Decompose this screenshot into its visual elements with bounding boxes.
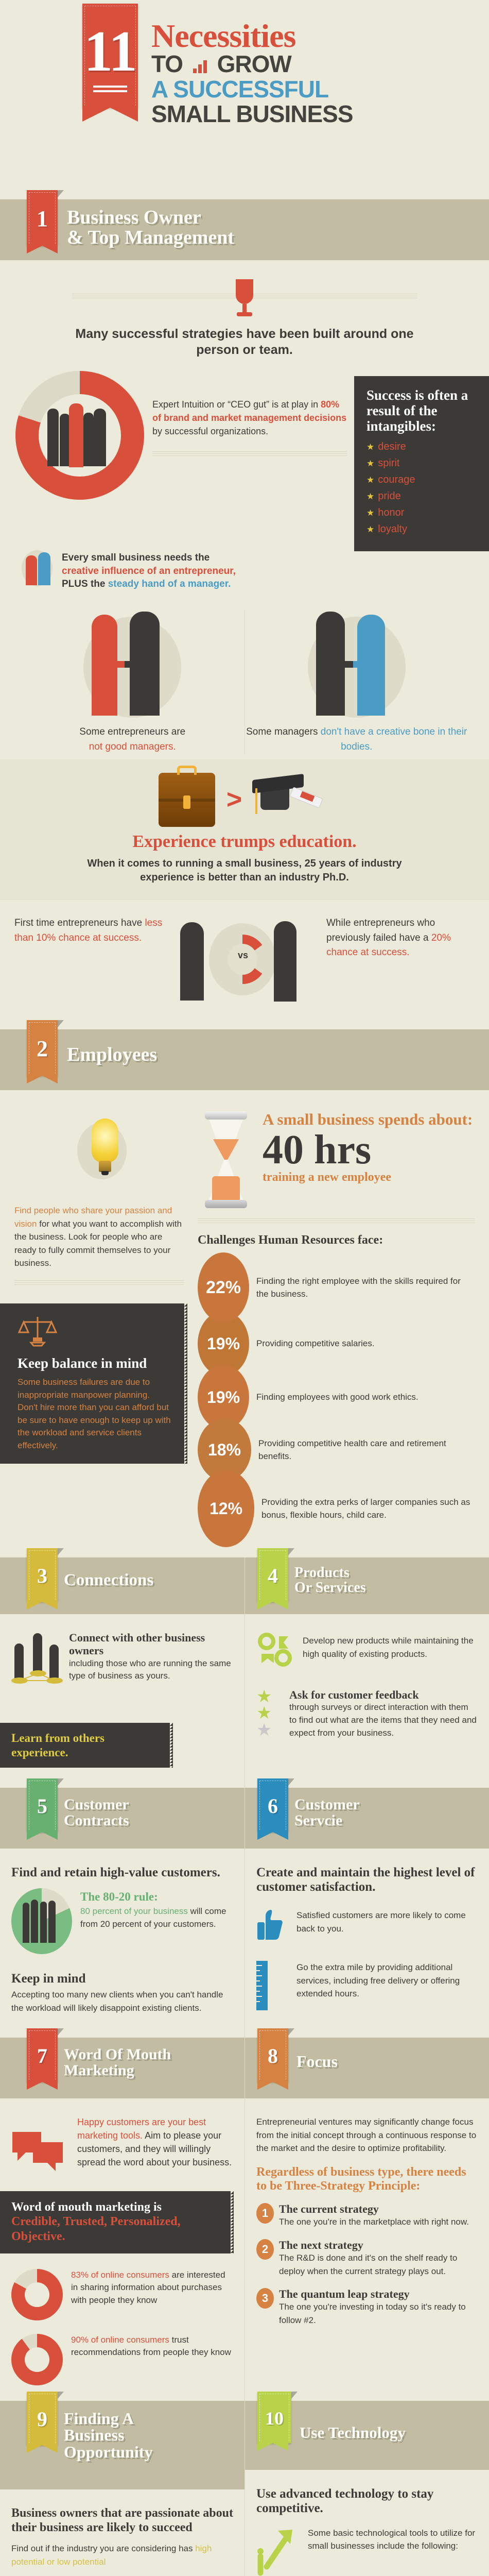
bar-chart-icon: [193, 60, 207, 73]
strategy-number: 1: [256, 2203, 274, 2224]
list-item: 22% Finding the right employee with the …: [198, 1252, 475, 1323]
header-ribbon: 11: [82, 4, 138, 108]
intangible-label: spirit: [378, 457, 399, 469]
intangibles-list: ★desire ★spirit ★courage ★pride ★honor ★…: [366, 441, 477, 535]
tools-intro: Some basic technological tools to utiliz…: [308, 2527, 478, 2576]
tab-fold: [58, 190, 64, 197]
growth-arrow-icon: [256, 2527, 301, 2576]
challenge-pct: 12%: [209, 1499, 242, 1518]
feedback-rest: through surveys or direct interaction wi…: [289, 1702, 477, 1737]
rule-lines-4: [198, 1218, 475, 1223]
intangibles-title: Success is often a result of the intangi…: [366, 387, 477, 434]
list-item: 3 The quantum leap strategy The one you'…: [256, 2288, 478, 2327]
focus-intro: Entrepreneurial ventures may significant…: [256, 2115, 478, 2155]
sections-7-8: 7 Word Of Mouth Marketing Happy customer…: [0, 2038, 489, 2401]
section-10-header: 10 Use Technology: [245, 2401, 489, 2470]
section-2-tab: 2: [27, 1020, 58, 1076]
experience-band: > Experience trumps education. When it c…: [0, 759, 489, 900]
header-line-necessities: Necessities: [151, 20, 353, 52]
star-icon: ★: [366, 442, 374, 452]
spends-title: A small business spends about:: [263, 1111, 475, 1128]
rule-lines-3: [14, 1280, 184, 1285]
zigzag-3: [0, 1090, 489, 1094]
section-4-header: 4 Products Or Services: [245, 1557, 489, 1614]
challenges-title: Challenges Human Resources face:: [198, 1233, 475, 1247]
spends-sub: training a new employee: [263, 1171, 475, 1184]
strategy-number: 2: [256, 2239, 274, 2260]
keep-in-mind-title: Keep in mind: [11, 1972, 234, 1986]
keep-balance-box: Keep balance in mind Some business failu…: [0, 1303, 184, 1464]
spends-number: 40 hrs: [263, 1130, 475, 1170]
rule-hl: 80 percent of your business: [80, 1906, 188, 1916]
zigzag-1: [0, 260, 489, 264]
feedback-hl: Ask for customer feedback: [289, 1688, 477, 1701]
section-1-lead: Many successful strategies have been bui…: [75, 326, 414, 359]
find-retain-title: Find and retain high-value customers.: [11, 1866, 234, 1880]
satisfaction-point-2: Go the extra mile by providing additiona…: [296, 1961, 478, 2001]
wrench-gear-icon: [256, 1631, 295, 1671]
intangible-label: desire: [378, 441, 406, 453]
section-9-tab: 9: [27, 2392, 58, 2445]
header-title-block: Necessities TO GROW A SUCCESSFUL SMALL B…: [138, 4, 353, 126]
pair-icon: [15, 548, 62, 589]
speech-bubbles-icon: [11, 2115, 69, 2178]
need-blue: steady hand of a manager.: [108, 579, 231, 589]
intangible-label: courage: [378, 474, 415, 486]
challenge-pct: 18%: [208, 1440, 241, 1460]
entrepreneur-group: Some entrepreneurs are not good managers…: [21, 609, 244, 754]
strategy-title: The current strategy: [279, 2203, 469, 2215]
scales-icon: [18, 1315, 172, 1349]
satisfaction-point-1: Satisfied customers are more likely to c…: [296, 1909, 478, 1935]
strategy-body: The one you're investing in today so it'…: [279, 2300, 478, 2327]
section-3-header: 3 Connections: [0, 1557, 244, 1614]
section-5-title: Customer Contracts: [64, 1797, 129, 1828]
section-1-body: Many successful strategies have been bui…: [0, 264, 489, 759]
strategy-body: The R&D is done and it's on the shelf re…: [279, 2251, 478, 2278]
experience-body: When it comes to running a small busines…: [75, 857, 414, 885]
star-icon: ★: [366, 459, 374, 469]
list-item: ★spirit: [366, 457, 477, 469]
thumbs-up-icon: [256, 1909, 287, 1943]
experience-title: Experience trumps education.: [0, 832, 489, 852]
stat-post: by successful organizations.: [152, 426, 268, 436]
section-10-tab: 10: [257, 2392, 291, 2443]
challenge-text: Providing competitive health care and re…: [258, 1437, 475, 1463]
strategy-title: The next strategy: [279, 2239, 478, 2251]
hourglass-icon: [198, 1111, 254, 1209]
challenge-text: Finding the right employee with the skil…: [256, 1275, 475, 1301]
section-7-body: Happy customers are your best marketing …: [0, 2102, 244, 2401]
section-6-header: 6 Customer Servcie: [245, 1788, 489, 1849]
section-1-tab: 1: [27, 190, 58, 246]
section-8-body: Entrepreneurial ventures may significant…: [245, 2102, 489, 2342]
section-2-title: Employees: [67, 1045, 157, 1065]
section-5-body: Find and retain high-value customers. Th…: [0, 1852, 244, 2038]
stat-pre: Expert Intuition or “CEO gut” is at play…: [152, 399, 321, 410]
lightbulb-icon: [14, 1111, 184, 1204]
challenge-text: Providing competitive salaries.: [256, 1337, 375, 1350]
connect-rest: including those who are running the same…: [69, 1658, 231, 1681]
create-maintain-title: Create and maintain the highest level of…: [256, 1866, 478, 1894]
need-mid: PLUS the: [62, 579, 108, 589]
section-10-body: Use advanced technology to stay competit…: [245, 2473, 489, 2576]
section-6-title: Customer Servcie: [294, 1797, 360, 1828]
section-9-title: Finding A Business Opportunity: [64, 2410, 152, 2461]
find-people-rest: for what you want to accomplish with the…: [14, 1219, 182, 1268]
strategy-body: The one you're in the marketplace with r…: [279, 2215, 469, 2229]
section-9-header: 9 Finding A Business Opportunity: [0, 2401, 244, 2489]
list-item: ★honor: [366, 507, 477, 519]
handshake-blue-icon: [298, 609, 416, 718]
trophy-icon: [233, 279, 256, 319]
section-7-title: Word Of Mouth Marketing: [64, 2047, 171, 2078]
section-6-body: Create and maintain the highest level of…: [245, 1852, 489, 2038]
greater-than-icon: >: [226, 792, 242, 808]
vs-left-pre: First time entrepreneurs have: [14, 918, 145, 928]
sections-3-4: 3 Connections: [0, 1557, 489, 1788]
strategy-number: 3: [256, 2288, 274, 2309]
develop-text: Develop new products while maintaining t…: [303, 1631, 477, 1671]
compare-left-pre: Some entrepreneurs are: [79, 726, 185, 737]
wom-box: Word of mouth marketing is Credible, Tru…: [0, 2191, 231, 2253]
vs-right-pre: While entrepreneurs who previously faile…: [326, 918, 435, 943]
section-3-body: Connect with other business owners inclu…: [0, 1618, 244, 1788]
challenges-list: 22% Finding the right employee with the …: [198, 1252, 475, 1547]
find-out-pre: Find out if the industry you are conside…: [11, 2544, 195, 2553]
challenge-pct: 19%: [207, 1388, 240, 1407]
zigzag-2: [0, 900, 489, 904]
list-item: ★loyalty: [366, 523, 477, 535]
donut-83-chart: [11, 2269, 63, 2320]
intangible-label: loyalty: [378, 523, 407, 535]
manager-group: Some managers don't have a creative bone…: [245, 609, 469, 754]
network-people-icon: [11, 1631, 63, 1703]
list-item: ★courage: [366, 474, 477, 486]
section-4-body: Develop new products while maintaining t…: [245, 1618, 489, 1788]
ribbon-rules: [93, 86, 127, 92]
section-5-tab: 5: [27, 1778, 58, 1832]
connect-hl: Connect with other business owners: [69, 1631, 232, 1657]
vs-label: vs: [231, 950, 255, 961]
challenge-text: Finding employees with good work ethics.: [256, 1391, 418, 1404]
graduation-cap-icon: [253, 773, 330, 827]
section-5-header: 5 Customer Contracts: [0, 1788, 244, 1849]
principle-title: Regardless of business type, there needs…: [256, 2165, 478, 2194]
section-10-title: Use Technology: [300, 2425, 406, 2441]
challenge-pct: 22%: [206, 1278, 241, 1298]
sections-9-10: 9 Finding A Business Opportunity Busines…: [0, 2401, 489, 2576]
list-item: ★pride: [366, 490, 477, 502]
section-9-body: Business owners that are passionate abou…: [0, 2493, 244, 2576]
list-item: 2 The next strategy The R&D is done and …: [256, 2239, 478, 2278]
section-4-tab: 4: [257, 1548, 288, 1602]
compare-left-hl: not good managers.: [89, 741, 176, 752]
intangibles-box: Success is often a result of the intangi…: [354, 376, 489, 552]
challenge-text: Providing the extra perks of larger comp…: [261, 1496, 475, 1522]
list-item: ★desire: [366, 441, 477, 453]
section-2-header: 2 Employees: [0, 1029, 489, 1090]
strategy-title: The quantum leap strategy: [279, 2288, 478, 2300]
section-7-tab: 7: [27, 2028, 58, 2082]
star-icon: ★: [366, 508, 374, 518]
vs-band: First time entrepreneurs have less than …: [0, 904, 489, 1029]
learn-from-others-box: Learn from others experience.: [0, 1723, 170, 1768]
keep-balance-body: Some business failures are due to inappr…: [18, 1376, 172, 1452]
section-8-title: Focus: [296, 2053, 338, 2070]
section-2-body: Find people who share your passion and v…: [0, 1094, 489, 1557]
strategy-list: 1 The current strategy The one you're in…: [256, 2203, 478, 2327]
section-3-tab: 3: [27, 1548, 58, 1602]
header-line-successful: A SUCCESSFUL: [151, 77, 353, 101]
ruler-icon: [256, 1961, 287, 2010]
section-1-title: Business Owner & Top Management: [67, 208, 234, 248]
section-4-title: Products Or Services: [294, 1566, 366, 1595]
header-number: 11: [82, 27, 138, 76]
header-line-grow: GROW: [217, 50, 291, 77]
briefcase-icon: [159, 773, 215, 827]
learn-box-text: Learn from others experience.: [11, 1731, 159, 1759]
compare-right-pre: Some managers: [246, 726, 321, 737]
star-rating-icon: ★ ★ ★: [256, 1688, 282, 1739]
rule-lines-2: [152, 451, 347, 456]
header-line-to: TO: [151, 50, 183, 77]
section-1-header: 1 Business Owner & Top Management: [0, 199, 489, 260]
wom-box-title: Word of mouth marketing is: [11, 2200, 219, 2214]
infographic-page: 11 Necessities TO GROW A SUCCESSFUL SMAL…: [0, 0, 489, 2576]
stat1-hl: 83% of online consumers: [71, 2270, 169, 2280]
intangible-label: pride: [378, 490, 400, 502]
tab-dash: [29, 192, 56, 244]
challenge-pct: 19%: [207, 1334, 240, 1353]
intangible-label: honor: [378, 507, 404, 519]
stat2-hl: 90% of online consumers: [71, 2335, 169, 2345]
list-item: 1 The current strategy The one you're in…: [256, 2203, 478, 2229]
use-tech-title: Use advanced technology to stay competit…: [256, 2487, 478, 2516]
vs-illustration: vs: [163, 916, 322, 1009]
passion-text: Business owners that are passionate abou…: [11, 2506, 234, 2535]
need-pre: Every small business needs the: [62, 552, 209, 563]
section-7-header: 7 Word Of Mouth Marketing: [0, 2038, 244, 2098]
wom-box-highlight: Credible, Trusted, Personalized, Objecti…: [11, 2214, 219, 2244]
star-icon: ★: [366, 475, 374, 485]
donut-80-20-chart: [11, 1888, 72, 1954]
list-item: 12% Providing the extra perks of larger …: [198, 1470, 475, 1547]
handshake-red-icon: [73, 609, 191, 718]
keep-in-mind-body: Accepting too many new clients when you …: [11, 1988, 234, 2014]
sections-5-6: 5 Customer Contracts Find and retain hig…: [0, 1788, 489, 2038]
star-icon: ★: [366, 524, 374, 535]
donut-80-chart: [15, 371, 144, 500]
section-8-header: 8 Focus: [245, 2038, 489, 2098]
section-6-tab: 6: [257, 1778, 288, 1832]
top-zigzag: [0, 0, 489, 4]
section-8-tab: 8: [257, 2028, 288, 2082]
section-3-title: Connections: [64, 1572, 153, 1589]
star-icon: ★: [366, 492, 374, 502]
need-red: creative influence of an entrepreneur,: [62, 566, 236, 577]
rule-title: The 80-20 rule:: [80, 1888, 234, 1905]
compare-right-hl: don't have a creative bone in their bodi…: [321, 726, 467, 752]
header: 11 Necessities TO GROW A SUCCESSFUL SMAL…: [0, 4, 489, 199]
donut-90-chart: [11, 2334, 63, 2385]
header-line-smallbusiness: SMALL BUSINESS: [151, 101, 353, 126]
keep-balance-title: Keep balance in mind: [18, 1355, 172, 1371]
